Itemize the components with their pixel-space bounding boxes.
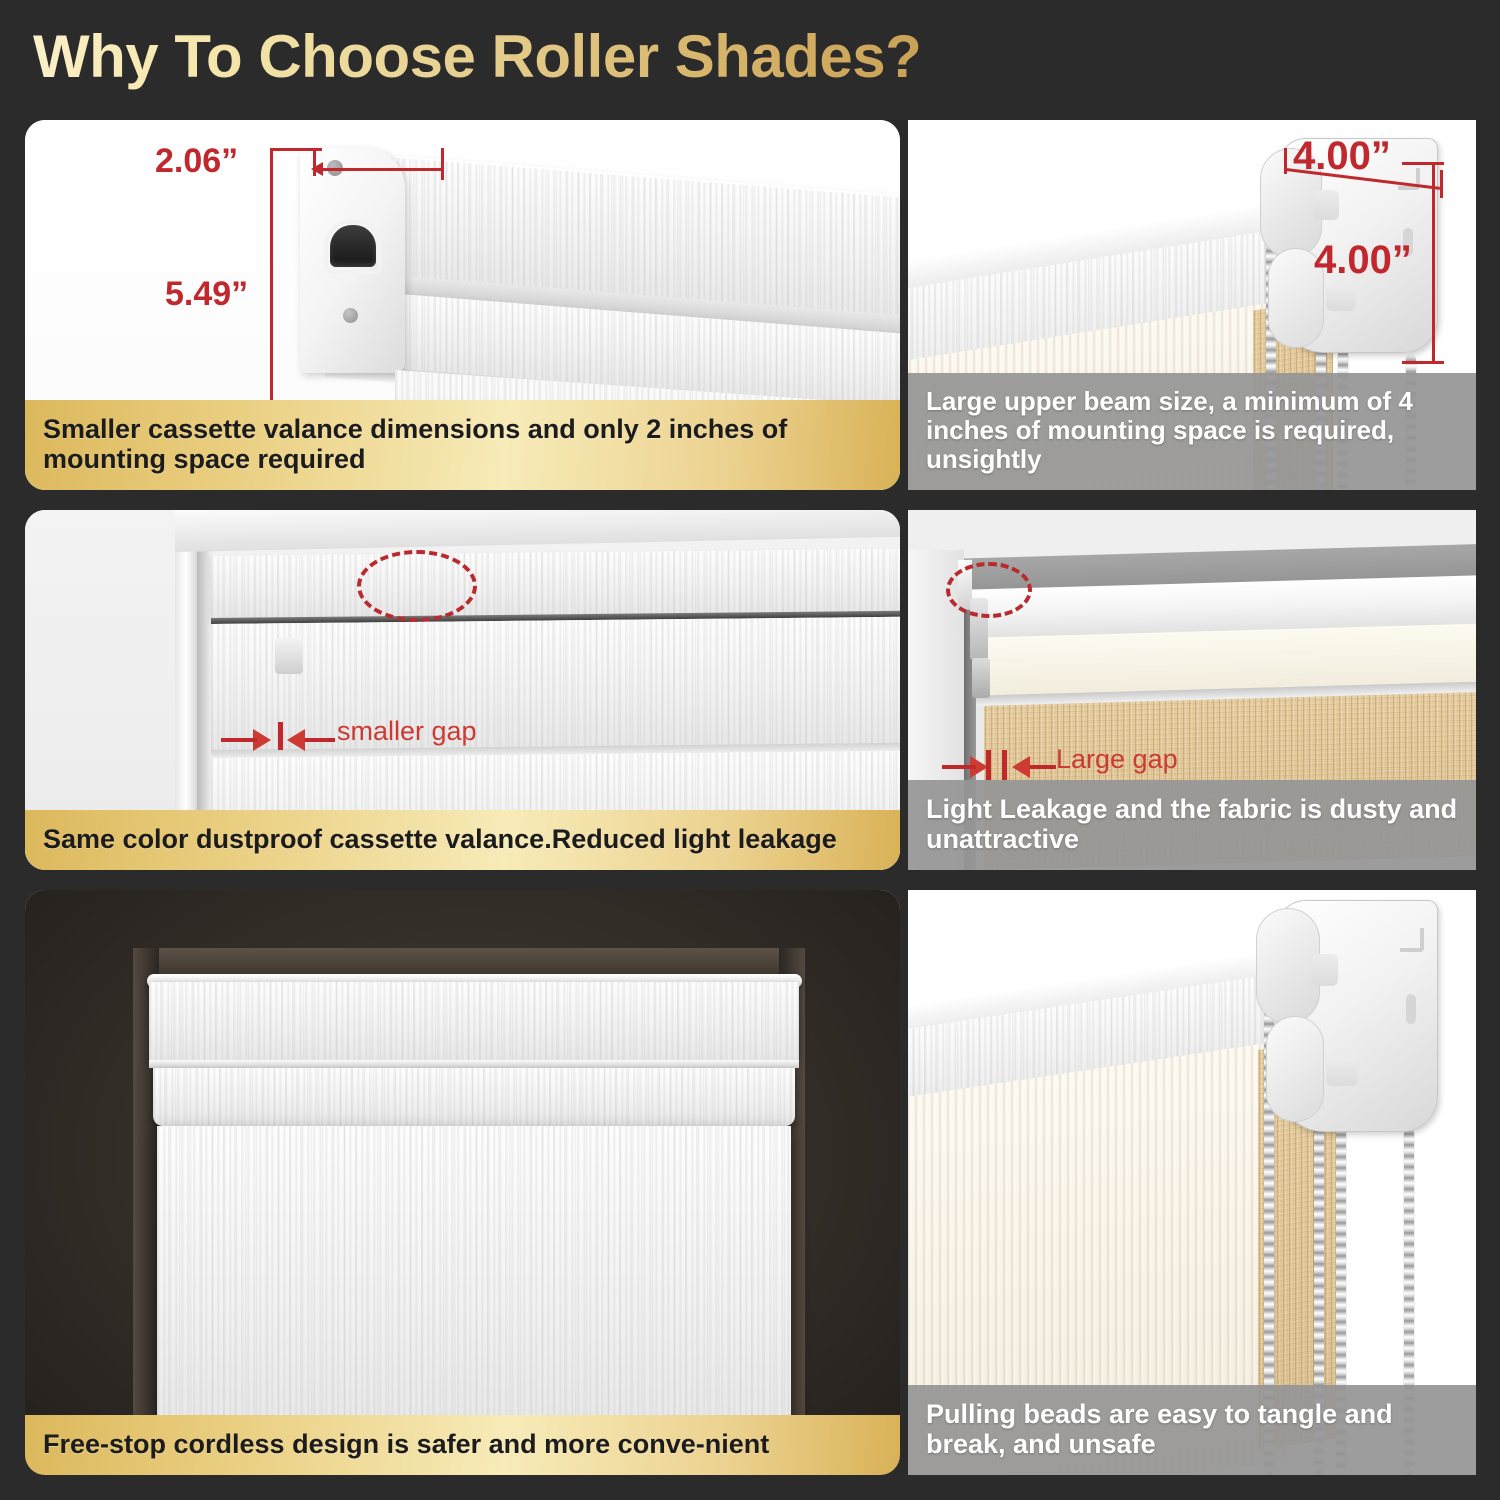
- beam-height-tick-bottom: [1402, 361, 1444, 364]
- width-dim-line: [315, 168, 443, 171]
- bracket-slot-mid: [1406, 994, 1416, 1024]
- gap-mechanism-lower: [972, 658, 990, 698]
- panel-caption-large-upper-beam: Large upper beam size, a minimum of 4 in…: [908, 373, 1476, 490]
- gap-arrow-left-pointing: [1012, 756, 1030, 778]
- shade-fabric-upper: [211, 617, 900, 754]
- cassette-valance-face: [149, 982, 799, 1062]
- cordless-design-illustration: [25, 890, 900, 1475]
- panel-caption-cassette-dimensions: Smaller cassette valance dimensions and …: [25, 400, 900, 490]
- beam-width-tick-right: [1440, 170, 1443, 198]
- beam-width-tick-left: [1284, 148, 1287, 174]
- roller-end-disc-lower: [1266, 1016, 1324, 1122]
- roller-end-disc: [1256, 908, 1320, 1024]
- width-dim-arrow-left: [311, 162, 323, 176]
- bracket-slot-top: [1400, 928, 1424, 952]
- gap-tick-right: [1002, 750, 1007, 780]
- bracket-emboss-bottom: [1326, 285, 1356, 311]
- seam-highlight-ellipse: [357, 550, 477, 622]
- smaller-gap-label: smaller gap: [337, 716, 477, 747]
- gap-arrow-left-pointing: [287, 729, 305, 751]
- gap-line-left: [221, 738, 257, 742]
- width-dimension-label: 2.06”: [155, 142, 238, 181]
- gap-line-right: [1030, 765, 1056, 769]
- beam-height-label: 4.00”: [1314, 238, 1412, 283]
- beam-height-tick-top: [1402, 162, 1444, 165]
- page-title: Why To Choose Roller Shades?: [33, 22, 921, 91]
- panel-caption-light-leakage: Light Leakage and the fabric is dusty an…: [908, 780, 1476, 870]
- panel-large-upper-beam: 4.00” 4.00” Large upper beam size, a min…: [908, 120, 1476, 490]
- valance-roll: [153, 1068, 795, 1126]
- height-dimension-label: 5.49”: [165, 275, 248, 314]
- panel-caption-cordless-design: Free-stop cordless design is safer and m…: [25, 1415, 900, 1475]
- panel-cordless-design: Free-stop cordless design is safer and m…: [25, 890, 900, 1475]
- side-bracket: [275, 638, 303, 674]
- gap-line-right: [305, 738, 335, 742]
- gap-tick-left: [986, 750, 991, 780]
- gap-tick: [278, 722, 283, 750]
- beam-width-label: 4.00”: [1293, 134, 1391, 179]
- gap-highlight-ellipse: [946, 562, 1032, 618]
- beam-height-dim-line: [1432, 162, 1435, 364]
- cassette-valance: [211, 549, 900, 620]
- gap-line-left: [942, 765, 976, 769]
- valance-lip: [149, 1060, 799, 1068]
- panel-caption-dustproof-cassette: Same color dustproof cassette valance.Re…: [25, 810, 900, 870]
- end-cap-slot-ring: [324, 220, 382, 274]
- panel-light-leakage: Large gap Light Leakage and the fabric i…: [908, 510, 1476, 870]
- width-dim-tick-right: [441, 148, 444, 180]
- height-dim-tick-top: [270, 148, 322, 151]
- end-cap-screw-mid: [343, 308, 358, 323]
- bracket-emboss-bottom: [1326, 1058, 1358, 1086]
- bracket-emboss-top: [1313, 190, 1339, 220]
- shade-fabric-panel: [157, 1126, 791, 1436]
- panel-caption-pulling-beads: Pulling beads are easy to tangle and bre…: [908, 1385, 1476, 1475]
- panel-pulling-beads: Pulling beads are easy to tangle and bre…: [908, 890, 1476, 1475]
- panel-dustproof-cassette: smaller gap Same color dustproof cassett…: [25, 510, 900, 870]
- panel-cassette-dimensions: 2.06” 5.49” Smaller cassette valance dim…: [25, 120, 900, 490]
- large-gap-label: Large gap: [1056, 744, 1178, 775]
- bracket-emboss-top: [1312, 954, 1338, 986]
